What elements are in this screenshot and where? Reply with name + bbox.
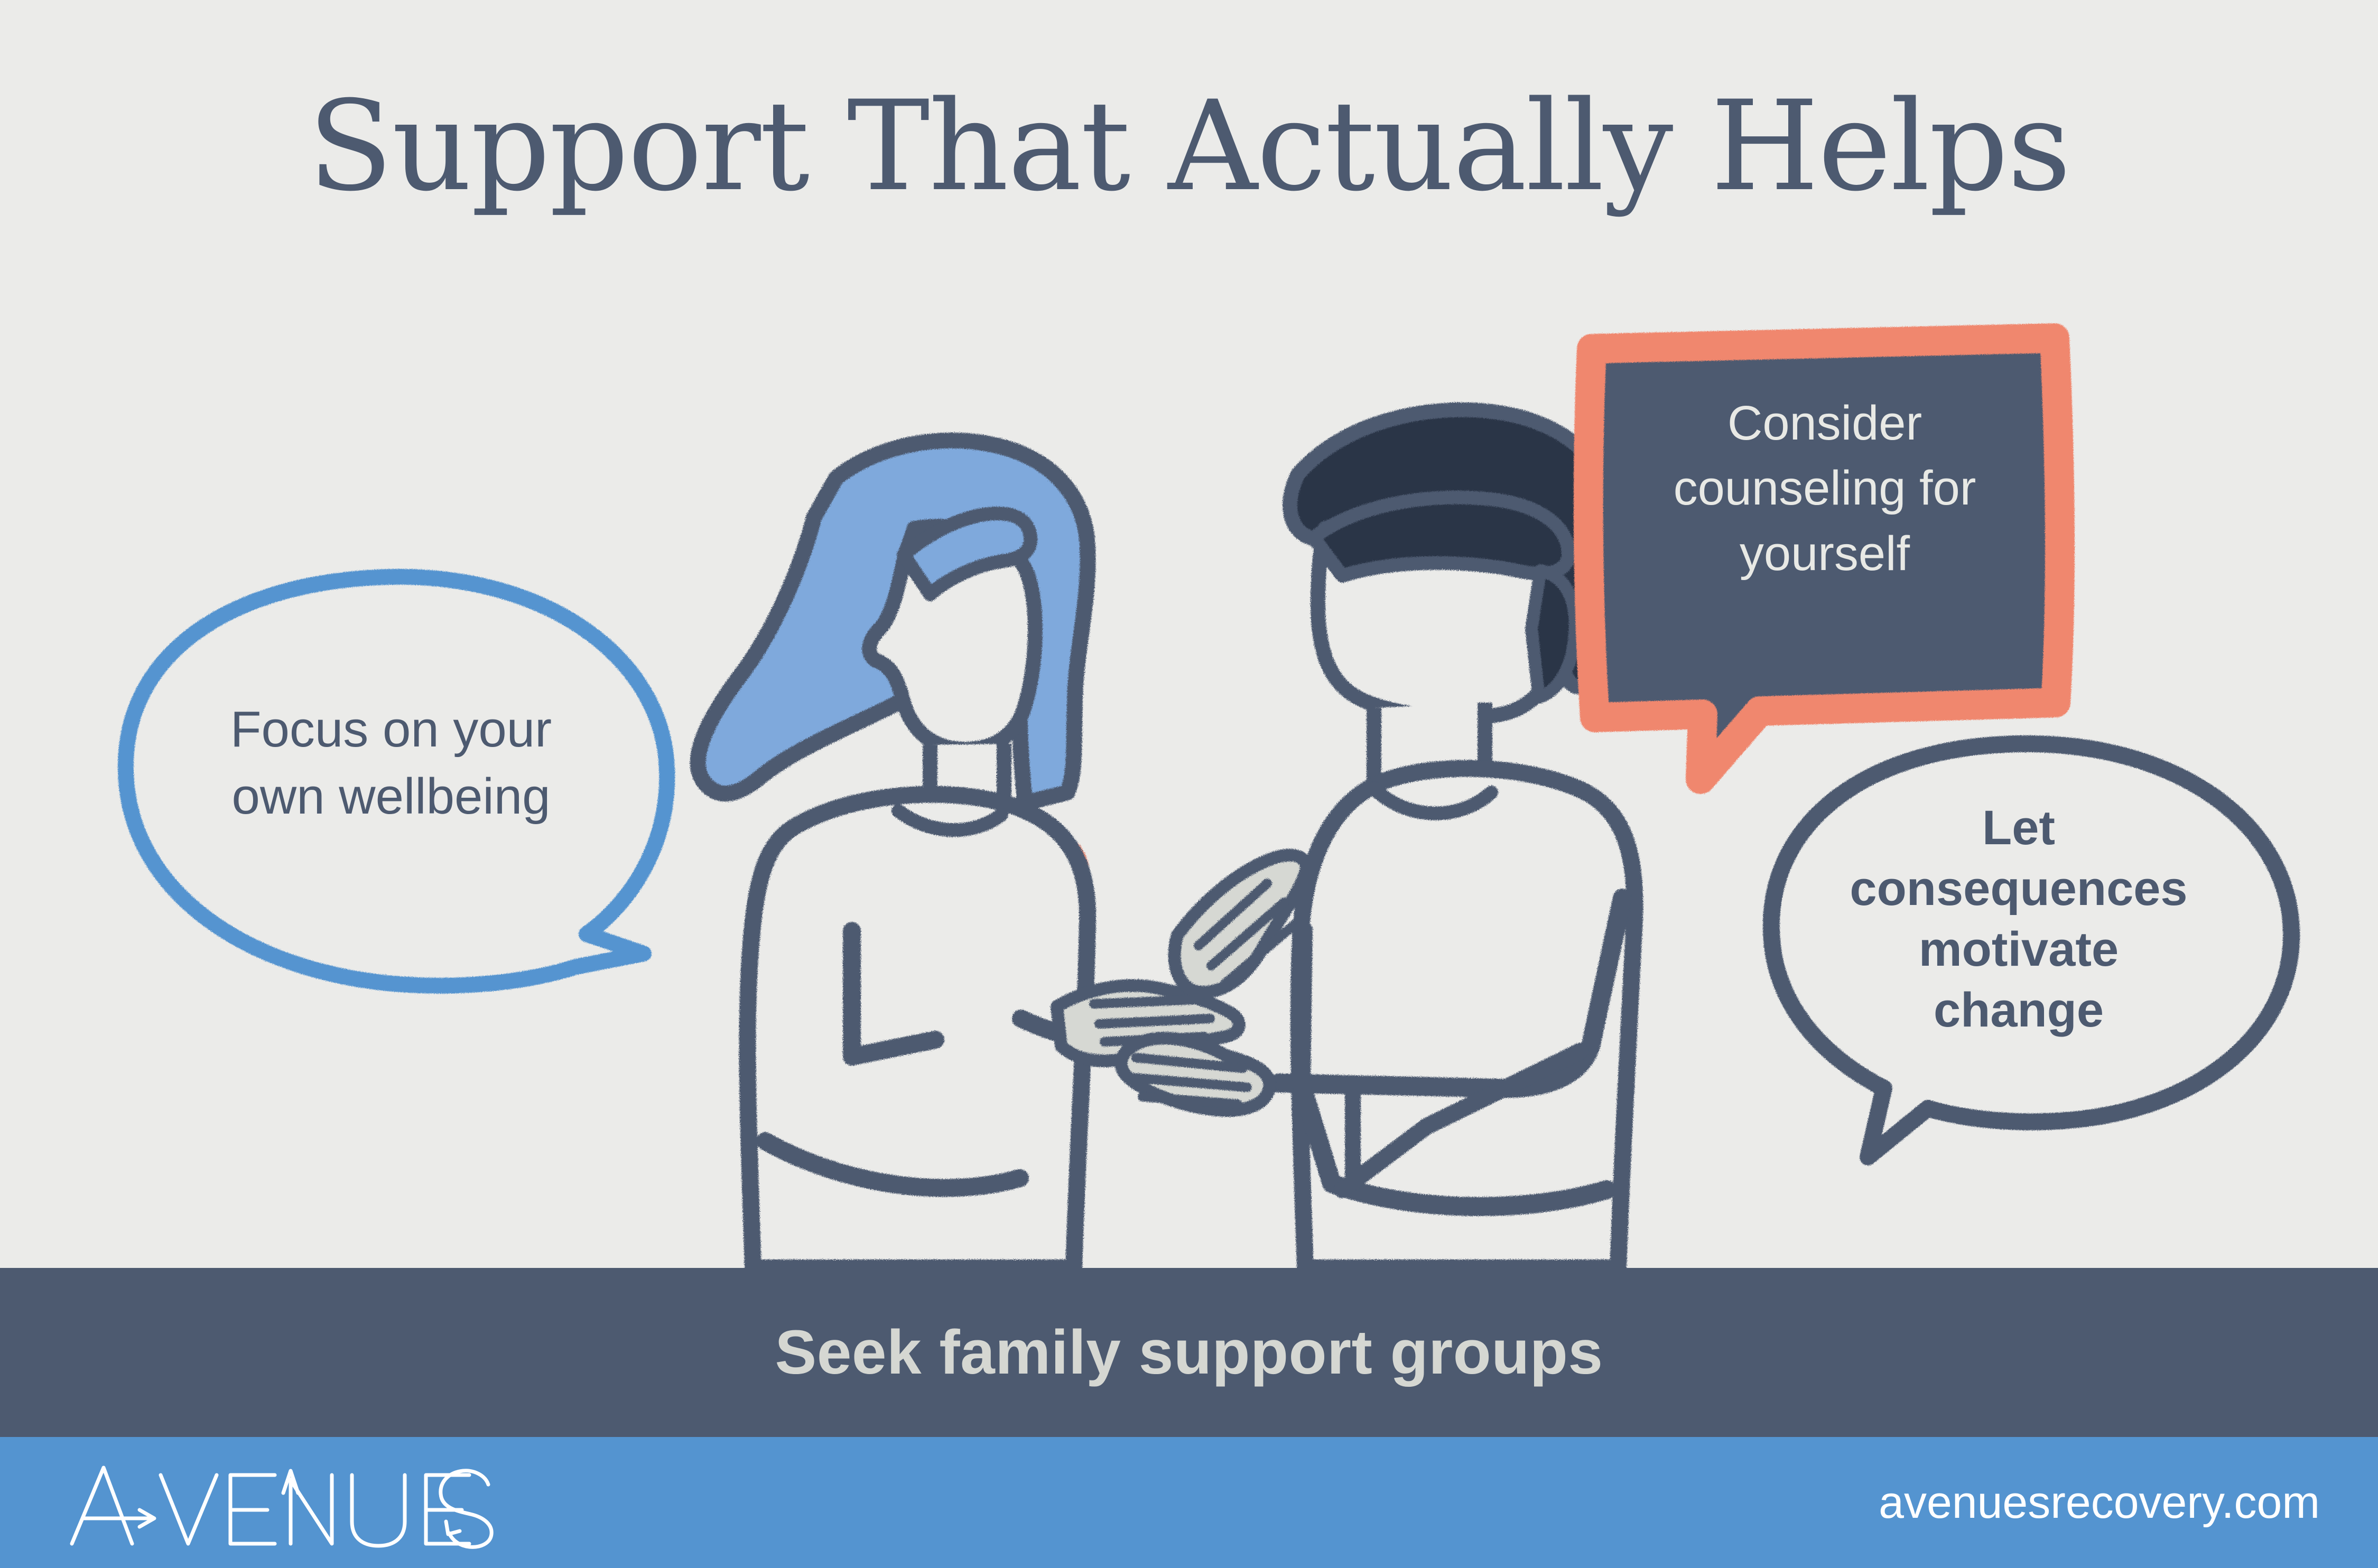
website-url[interactable]: avenuesrecovery.com [1879, 1437, 2320, 1568]
bottom-banner: Seek family support groups [0, 1268, 2378, 1437]
bubble-wellbeing-text: Focus on yourown wellbeing [159, 696, 624, 830]
footer-bar: avenuesrecovery.com [0, 1437, 2378, 1568]
infographic-canvas: Support That Actually Helps [0, 0, 2378, 1568]
banner-text: Seek family support groups [775, 1317, 1603, 1388]
bubble-counseling-text: Considercounseling foryourself [1605, 391, 2044, 586]
bubble-consequences-text: Letconsequencesmotivatechange [1813, 798, 2225, 1041]
woman-figure [698, 441, 1306, 1268]
man-figure [1121, 410, 1635, 1268]
avenues-logo[interactable] [62, 1459, 496, 1549]
page-title: Support That Actually Helps [0, 85, 2378, 209]
